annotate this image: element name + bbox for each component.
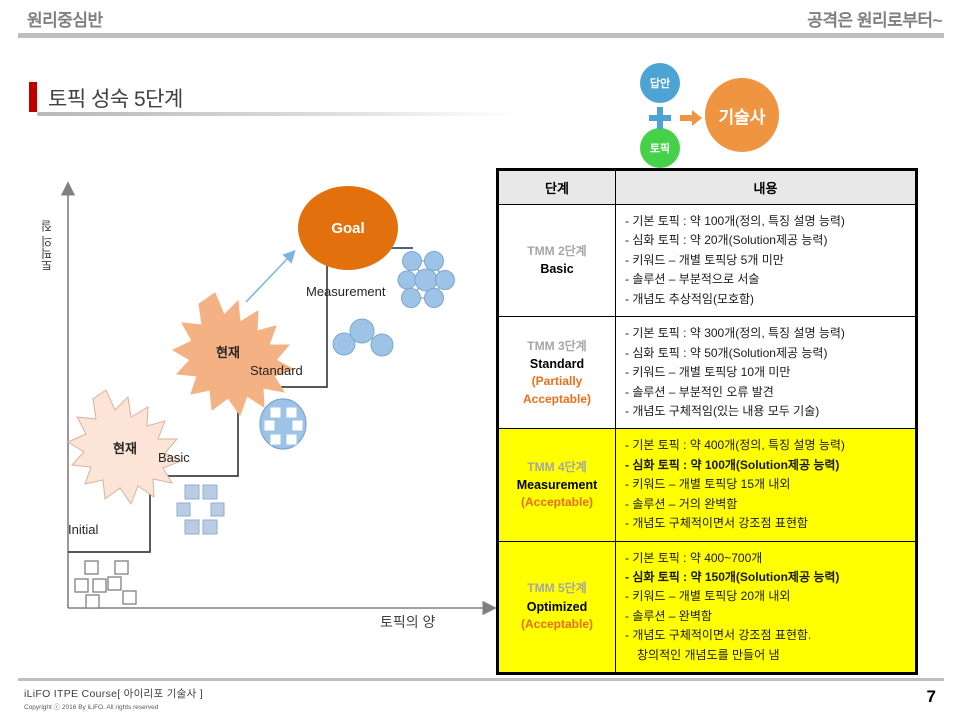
content-line: - 키워드 – 개별 토픽당 15개 내외 xyxy=(625,475,906,494)
content-line: - 기본 토픽 : 약 400개(정의, 특징 설명 능력) xyxy=(625,436,906,455)
basic-squares xyxy=(177,485,224,534)
content-line: - 솔루션 – 부분적으로 서술 xyxy=(625,270,906,289)
stage-cell: TMM 2단계Basic xyxy=(498,205,616,317)
content-line: - 솔루션 – 부분적인 오류 발견 xyxy=(625,383,906,402)
stage-tmm-label: TMM 3단계 xyxy=(503,338,611,355)
content-cell: - 기본 토픽 : 약 400~700개- 심화 토픽 : 약 150개(Sol… xyxy=(616,541,917,674)
stair-label-measurement: Measurement xyxy=(306,284,385,299)
content-line: - 키워드 – 개별 토픽당 10개 미만 xyxy=(625,363,906,382)
topic-circle: 토픽 xyxy=(640,128,680,168)
y-axis-label: 토픽의 질 xyxy=(38,220,55,271)
standard-cluster xyxy=(260,399,306,449)
content-line: - 개념도 구체적이면서 강조점 표현함. xyxy=(625,626,906,645)
content-line: - 솔루션 – 완벽함 xyxy=(625,607,906,626)
slide-header: 원리중심반 공격은 원리로부터~ xyxy=(0,0,960,40)
stage-tmm-label: TMM 4단계 xyxy=(503,459,611,476)
content-cell: - 기본 토픽 : 약 100개(정의, 특징 설명 능력)- 심화 토픽 : … xyxy=(616,205,917,317)
arrow-right-icon xyxy=(680,110,702,126)
staircase-chart: Goal 현재 현재 Initial Basic Standard Measur… xyxy=(60,180,510,640)
goal-label: Goal xyxy=(298,220,398,237)
stage-acceptance-label: (Partially Acceptable) xyxy=(503,373,611,408)
goal-network-cluster xyxy=(398,252,455,308)
stage-name-label: Measurement xyxy=(503,476,611,494)
table-header-row: 단계 내용 xyxy=(498,170,917,205)
burst-label-upper: 현재 xyxy=(178,342,278,361)
content-line: - 심화 토픽 : 약 50개(Solution제공 능력) xyxy=(625,344,906,363)
page-title: 토픽 성숙 5단계 xyxy=(48,83,183,113)
content-line: - 심화 토픽 : 약 150개(Solution제공 능력) xyxy=(625,568,906,587)
table-row: TMM 5단계Optimized(Acceptable)- 기본 토픽 : 약 … xyxy=(498,541,917,674)
content-cell: - 기본 토픽 : 약 400개(정의, 특징 설명 능력)- 심화 토픽 : … xyxy=(616,429,917,541)
measurement-cluster xyxy=(333,319,393,356)
staircase-graphic xyxy=(60,180,510,640)
table-body: TMM 2단계Basic- 기본 토픽 : 약 100개(정의, 특징 설명 능… xyxy=(498,205,917,674)
engineer-circle: 기술사 xyxy=(705,78,779,152)
stage-cell: TMM 3단계Standard(Partially Acceptable) xyxy=(498,317,616,429)
stage-acceptance-label: (Acceptable) xyxy=(503,494,611,511)
footer-divider xyxy=(18,678,944,681)
content-line: - 기본 토픽 : 약 400~700개 xyxy=(625,549,906,568)
content-line: 창의적인 개념도를 만들어 냄 xyxy=(625,646,906,665)
plus-icon xyxy=(648,106,672,130)
stage-acceptance-label: (Acceptable) xyxy=(503,616,611,633)
header-divider xyxy=(18,33,944,38)
content-line: - 키워드 – 개별 토픽당 5개 미만 xyxy=(625,251,906,270)
footer-brand: iLiFO ITPE Course[ 아이리포 기술사 ] xyxy=(24,686,203,701)
table-row: TMM 2단계Basic- 기본 토픽 : 약 100개(정의, 특징 설명 능… xyxy=(498,205,917,317)
table-row: TMM 4단계Measurement(Acceptable)- 기본 토픽 : … xyxy=(498,429,917,541)
title-accent-bar xyxy=(29,82,37,112)
answer-circle-label: 답안 xyxy=(650,75,670,91)
content-line: - 개념도 추상적임(모호함) xyxy=(625,290,906,309)
content-line: - 심화 토픽 : 약 20개(Solution제공 능력) xyxy=(625,231,906,250)
stage-cell: TMM 4단계Measurement(Acceptable) xyxy=(498,429,616,541)
header-right-title: 공격은 원리로부터~ xyxy=(807,6,942,31)
table-header-stage: 단계 xyxy=(498,170,616,205)
topic-circle-label: 토픽 xyxy=(650,140,670,156)
table-header-content: 내용 xyxy=(616,170,917,205)
page-number: 7 xyxy=(927,687,936,707)
content-line: - 개념도 구체적이면서 강조점 표현함 xyxy=(625,514,906,533)
stage-name-label: Standard xyxy=(503,355,611,373)
content-line: - 심화 토픽 : 약 100개(Solution제공 능력) xyxy=(625,456,906,475)
engineer-circle-label: 기술사 xyxy=(719,103,766,128)
stage-table: 단계 내용 TMM 2단계Basic- 기본 토픽 : 약 100개(정의, 특… xyxy=(496,168,918,675)
initial-squares xyxy=(75,561,136,608)
content-line: - 키워드 – 개별 토픽당 20개 내외 xyxy=(625,587,906,606)
stair-label-basic: Basic xyxy=(158,450,190,465)
content-line: - 솔루션 – 거의 완벽함 xyxy=(625,495,906,514)
stage-cell: TMM 5단계Optimized(Acceptable) xyxy=(498,541,616,674)
answer-circle: 답안 xyxy=(640,63,680,103)
stage-name-label: Basic xyxy=(503,260,611,278)
stair-label-initial: Initial xyxy=(68,522,98,537)
footer-copyright: Copyright ⓒ 2016 By iLiFO. All rights re… xyxy=(24,701,158,711)
table-row: TMM 3단계Standard(Partially Acceptable)- 기… xyxy=(498,317,917,429)
x-axis-label: 토픽의 양 xyxy=(380,612,435,632)
stage-tmm-label: TMM 2단계 xyxy=(503,243,611,260)
stage-name-label: Optimized xyxy=(503,598,611,616)
content-line: - 기본 토픽 : 약 300개(정의, 특징 설명 능력) xyxy=(625,324,906,343)
header-left-title: 원리중심반 xyxy=(27,6,103,31)
stage-tmm-label: TMM 5단계 xyxy=(503,580,611,597)
stair-label-standard: Standard xyxy=(250,363,303,378)
concept-diagram: 답안 토픽 기술사 xyxy=(620,60,820,170)
content-line: - 개념도 구체적임(있는 내용 모두 기술) xyxy=(625,402,906,421)
content-line: - 기본 토픽 : 약 100개(정의, 특징 설명 능력) xyxy=(625,212,906,231)
content-cell: - 기본 토픽 : 약 300개(정의, 특징 설명 능력)- 심화 토픽 : … xyxy=(616,317,917,429)
title-underline xyxy=(37,112,517,116)
